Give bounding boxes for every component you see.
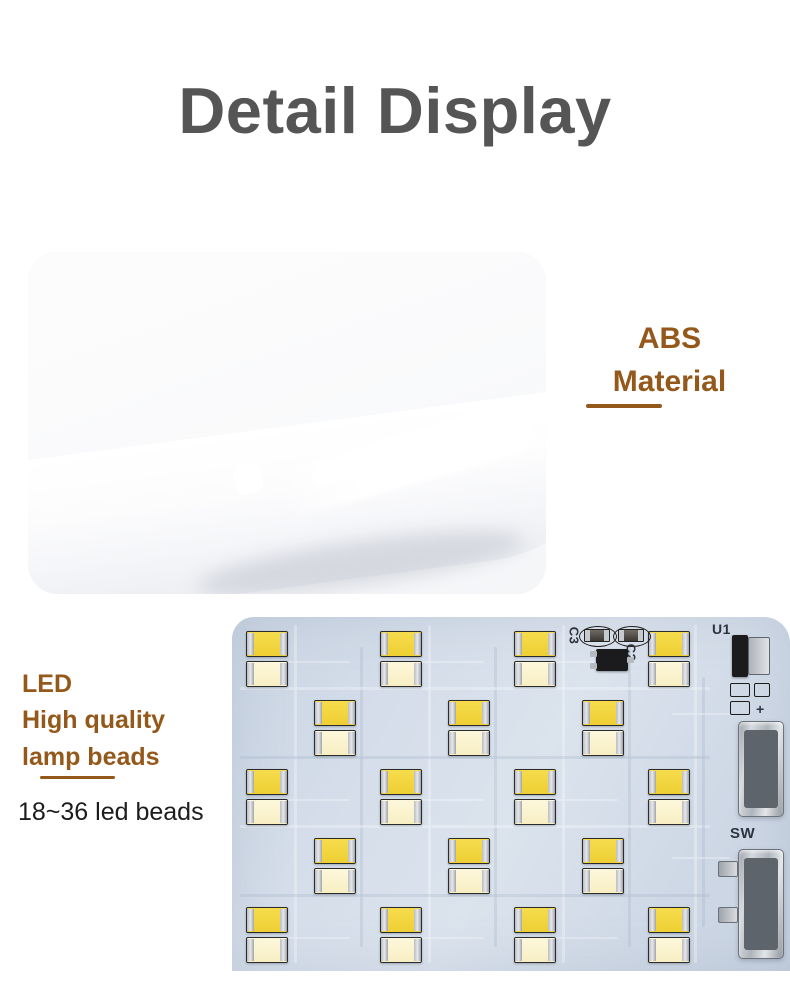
ic-pin-row xyxy=(748,637,770,675)
usb-connector-upper xyxy=(738,721,784,817)
led-bead-pair xyxy=(246,631,288,687)
led-bead-cool xyxy=(314,868,356,894)
led-bead-pair xyxy=(380,907,422,963)
led-bead-warm xyxy=(380,631,422,657)
led-bead-cool xyxy=(514,799,556,825)
solder-pad xyxy=(754,683,770,697)
led-label-line-2: High quality xyxy=(22,702,232,738)
led-bead-pair xyxy=(380,631,422,687)
solder-pad xyxy=(730,683,750,697)
led-bead-pair xyxy=(380,769,422,825)
usb-connector-lower xyxy=(738,849,784,959)
led-bead-cool xyxy=(648,661,690,687)
led-bead-pair xyxy=(582,838,624,894)
led-bead-warm xyxy=(582,838,624,864)
led-bead-cool xyxy=(582,730,624,756)
led-bead-cool xyxy=(246,661,288,687)
led-bead-warm xyxy=(380,769,422,795)
abs-material-photo xyxy=(28,252,546,594)
led-bead-pair xyxy=(582,700,624,756)
led-bead-cool xyxy=(380,661,422,687)
led-bead-cool xyxy=(246,799,288,825)
led-bead-warm xyxy=(246,631,288,657)
led-bead-warm xyxy=(648,907,690,933)
led-bead-cool xyxy=(582,868,624,894)
led-bead-pair xyxy=(648,631,690,687)
led-bead-warm xyxy=(514,769,556,795)
led-bead-cool xyxy=(380,937,422,963)
led-bead-warm xyxy=(514,631,556,657)
led-bead-cool xyxy=(448,730,490,756)
led-bead-cool xyxy=(514,661,556,687)
silkscreen-polarity-plus: + xyxy=(756,701,765,717)
led-bead-pair xyxy=(314,838,356,894)
silkscreen-u1: U1 xyxy=(712,621,731,637)
page-title: Detail Display xyxy=(0,78,790,143)
led-lamp-beads-label: LED High quality lamp beads xyxy=(22,666,232,775)
led-label-line-3: lamp beads xyxy=(22,739,232,775)
led-bead-warm xyxy=(314,700,356,726)
abs-label-underline xyxy=(586,404,662,408)
led-bead-warm xyxy=(314,838,356,864)
connector-tab xyxy=(718,861,738,877)
silkscreen-c3: C3 xyxy=(566,627,581,645)
led-bead-cool xyxy=(380,799,422,825)
pcb-substrate: C3 C2 U1 + SW xyxy=(232,617,790,971)
led-bead-pair xyxy=(648,907,690,963)
led-bead-cool xyxy=(648,799,690,825)
led-bead-pair xyxy=(514,907,556,963)
led-bead-cool xyxy=(648,937,690,963)
led-bead-cool xyxy=(448,868,490,894)
led-bead-pair xyxy=(314,700,356,756)
led-bead-cool xyxy=(246,937,288,963)
driver-ic xyxy=(732,635,748,677)
led-bead-warm xyxy=(648,631,690,657)
led-bead-pair xyxy=(514,631,556,687)
led-bead-pair xyxy=(448,838,490,894)
led-bead-warm xyxy=(448,838,490,864)
solder-pad xyxy=(730,701,750,715)
led-bead-cool xyxy=(314,730,356,756)
pcb-copper-traces xyxy=(232,617,790,971)
led-bead-warm xyxy=(246,907,288,933)
abs-material-label: ABS Material xyxy=(562,318,777,403)
led-bead-pair xyxy=(648,769,690,825)
silkscreen-outline xyxy=(579,626,617,647)
led-bead-pair xyxy=(246,907,288,963)
led-label-line-1: LED xyxy=(22,666,232,702)
abs-label-line-1: ABS xyxy=(562,318,777,361)
led-bead-cool xyxy=(514,937,556,963)
led-bead-warm xyxy=(514,907,556,933)
silkscreen-sw: SW xyxy=(730,825,755,842)
abs-label-line-2: Material xyxy=(562,361,777,404)
led-bead-warm xyxy=(648,769,690,795)
led-bead-warm xyxy=(380,907,422,933)
connector-tab xyxy=(718,907,738,923)
led-bead-count-text: 18~36 led beads xyxy=(18,798,233,827)
led-bead-pair xyxy=(514,769,556,825)
led-bead-warm xyxy=(582,700,624,726)
led-pcb-photo: C3 C2 U1 + SW xyxy=(232,617,790,971)
led-bead-warm xyxy=(448,700,490,726)
led-bead-warm xyxy=(246,769,288,795)
led-bead-pair xyxy=(448,700,490,756)
led-label-underline xyxy=(40,776,115,779)
transistor-chip xyxy=(596,649,628,671)
led-bead-pair xyxy=(246,769,288,825)
